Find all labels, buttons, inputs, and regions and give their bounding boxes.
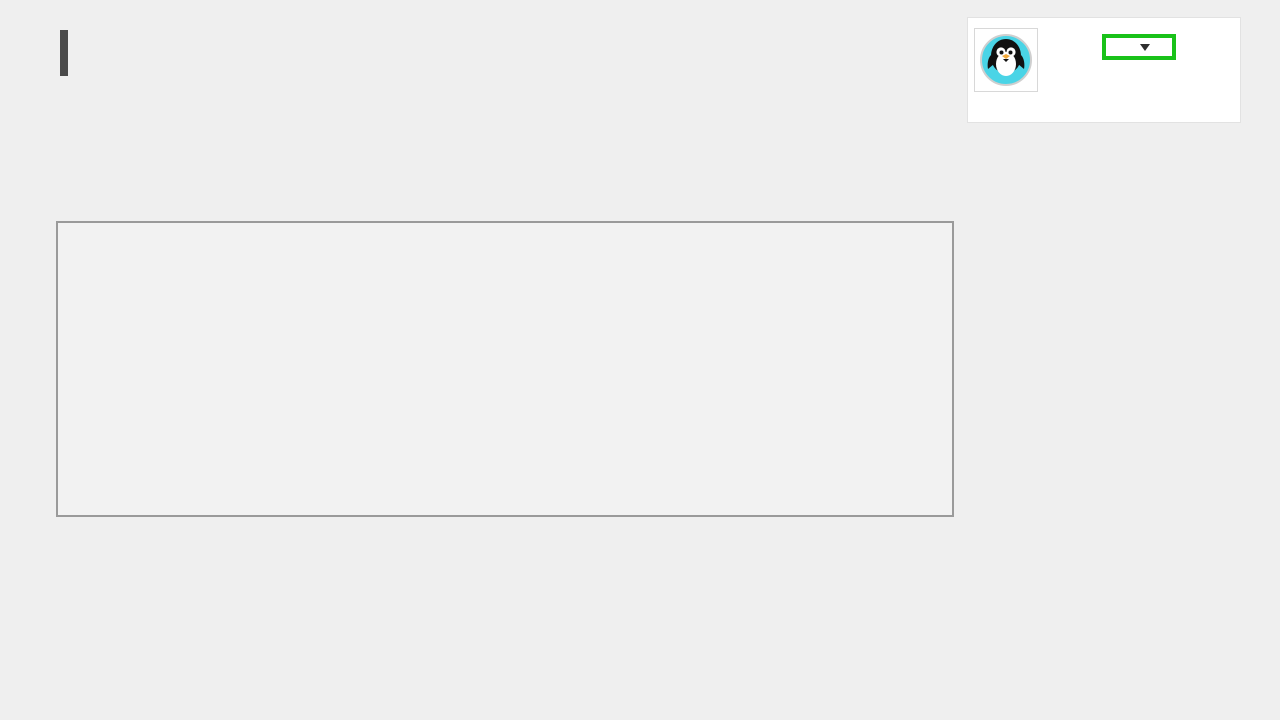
penguin-avatar-icon (974, 28, 1038, 92)
tables-dashboard (56, 221, 954, 517)
chevron-down-icon[interactable] (1140, 44, 1150, 51)
watermark (58, 223, 956, 519)
brand-badge[interactable] (968, 18, 1240, 122)
brand-dropdown[interactable] (1102, 34, 1176, 60)
page-title (60, 24, 82, 82)
title-accent-bar (60, 30, 68, 76)
